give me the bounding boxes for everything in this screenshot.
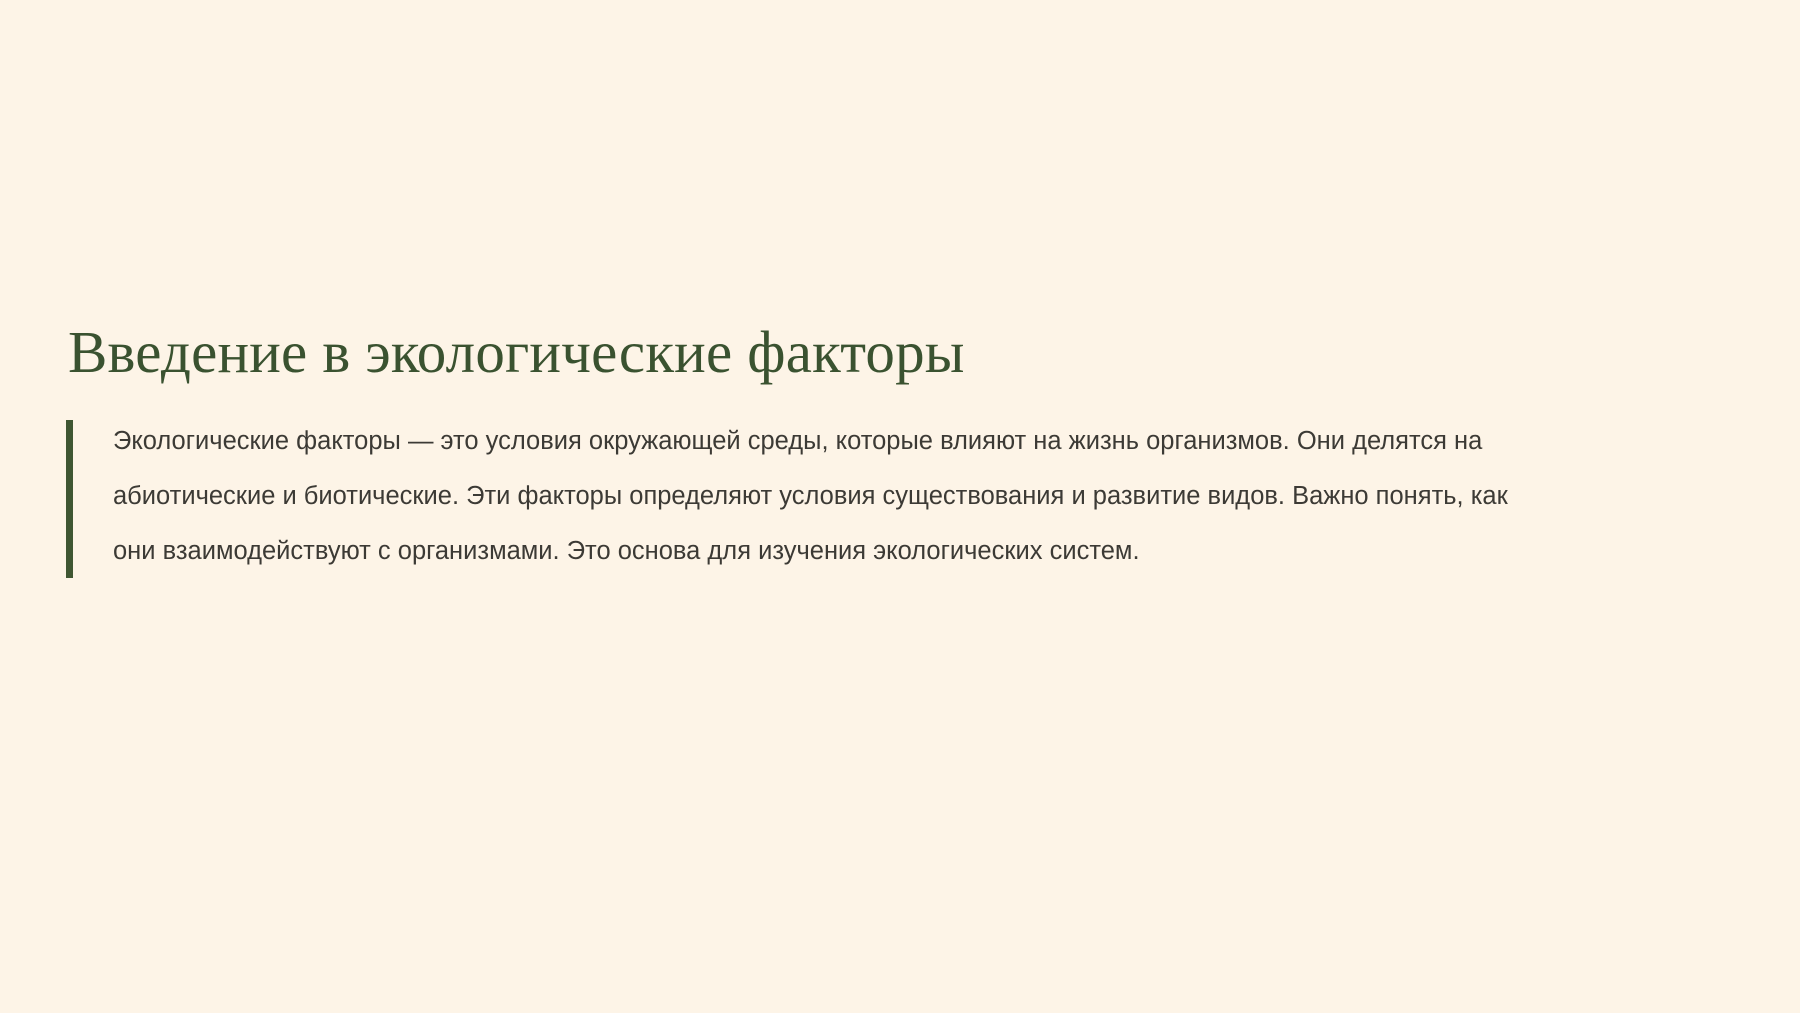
slide-content: Введение в экологические факторы Экологи… [66, 318, 1746, 579]
page-title: Введение в экологические факторы [66, 318, 1746, 386]
accent-bar [66, 420, 73, 578]
slide-canvas: Введение в экологические факторы Экологи… [0, 0, 1800, 1013]
body-callout: Экологические факторы — это условия окру… [66, 414, 1548, 579]
body-paragraph: Экологические факторы — это условия окру… [113, 414, 1548, 579]
